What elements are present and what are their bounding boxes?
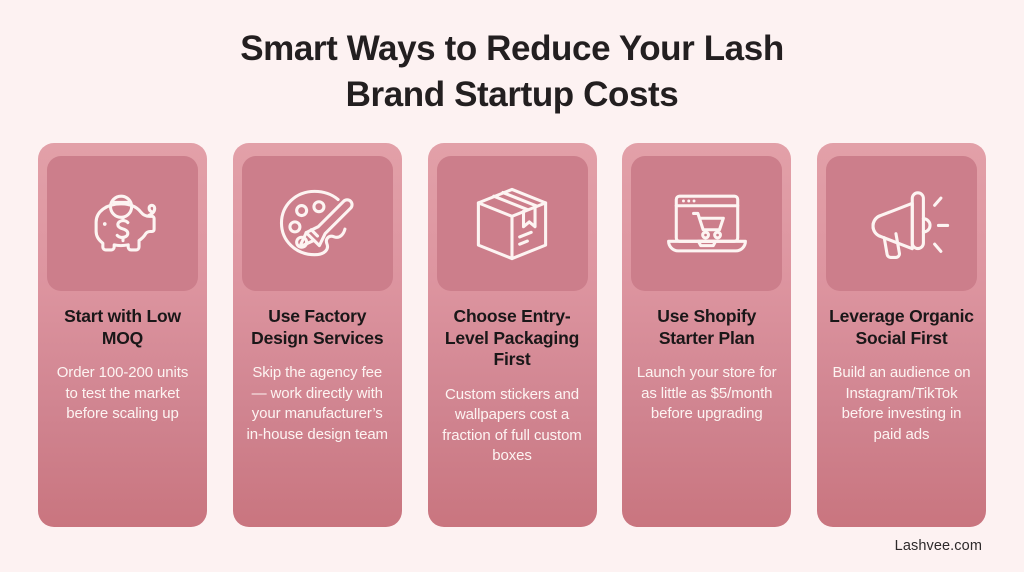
laptop-shopping-cart-icon [659,176,755,272]
tip-card-body: Custom stickers and wallpapers cost a fr… [437,385,588,467]
tip-card-body: Build an audience on Instagram/TikTok be… [826,363,977,445]
tip-card-heading: Use Shopify Starter Plan [631,306,782,349]
tip-card-body: Launch your store for as little as $5/mo… [631,363,782,425]
icon-tile [47,156,198,291]
tip-card-heading: Leverage Organic Social First [826,306,977,349]
page-title: Smart Ways to Reduce Your Lash Brand Sta… [0,26,1024,118]
icon-tile [437,156,588,291]
tip-card-body: Skip the agency fee — work directly with… [242,363,393,445]
tip-card-shopify-starter: Use Shopify Starter Plan Launch your sto… [622,143,791,527]
page-title-line-1: Smart Ways to Reduce Your Lash [150,26,874,72]
piggy-bank-icon [75,176,171,272]
tip-card-heading: Choose Entry-Level Packaging First [437,306,588,371]
tip-card-heading: Start with Low MOQ [47,306,198,349]
tip-card-factory-design: Use Factory Design Services Skip the age… [233,143,402,527]
footer-brand: Lashvee.com [895,538,982,554]
tip-card-entry-packaging: Choose Entry-Level Packaging First Custo… [428,143,597,527]
package-box-icon [464,176,560,272]
tip-card-heading: Use Factory Design Services [242,306,393,349]
tip-card-body: Order 100-200 units to test the market b… [47,363,198,425]
tip-card-low-moq: Start with Low MOQ Order 100-200 units t… [38,143,207,527]
tip-card-organic-social: Leverage Organic Social First Build an a… [817,143,986,527]
icon-tile [631,156,782,291]
icon-tile [826,156,977,291]
paint-palette-icon [269,176,365,272]
infographic-canvas: Smart Ways to Reduce Your Lash Brand Sta… [0,0,1024,572]
icon-tile [242,156,393,291]
megaphone-icon [854,176,950,272]
page-title-line-2: Brand Startup Costs [150,72,874,118]
tips-card-row: Start with Low MOQ Order 100-200 units t… [38,143,986,527]
